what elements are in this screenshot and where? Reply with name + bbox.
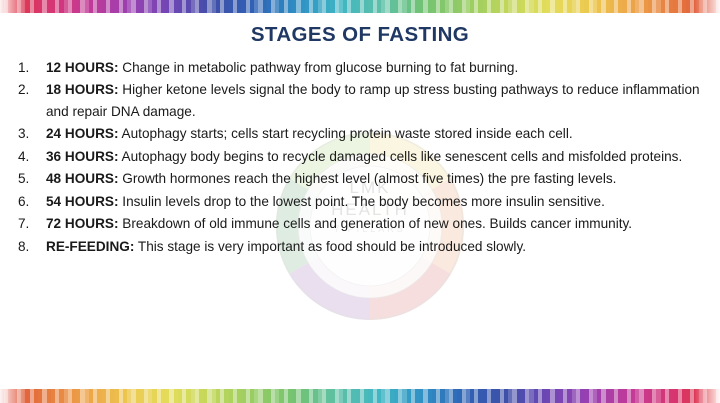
stage-description: Higher ketone levels signal the body to … <box>46 82 700 119</box>
bottom-border-stripe <box>275 389 279 403</box>
top-border-stripe <box>449 0 453 13</box>
top-border-stripe <box>275 0 279 13</box>
stage-number: 2. <box>14 79 46 101</box>
stage-label: 12 HOURS: <box>46 60 119 75</box>
stage-label: 72 HOURS: <box>46 216 119 231</box>
top-border-stripe <box>690 0 694 13</box>
bottom-border-stripe <box>627 389 631 403</box>
bottom-border-stripe <box>703 389 707 403</box>
stage-text: 54 HOURS: Insulin levels drop to the low… <box>46 191 704 213</box>
top-border-stripe <box>665 0 669 13</box>
stage-label: 54 HOURS: <box>46 194 119 209</box>
stage-description: Autophagy body begins to recycle damaged… <box>119 149 683 164</box>
stage-description: Breakdown of old immune cells and genera… <box>119 216 633 231</box>
top-border-stripe <box>373 0 377 13</box>
bottom-border-stripe <box>550 389 554 403</box>
bottom-border-stripe <box>106 389 110 403</box>
list-item: 3.24 HOURS: Autophagy starts; cells star… <box>0 123 720 145</box>
stage-number: 8. <box>14 236 46 258</box>
top-border-stripe <box>258 0 262 13</box>
stage-text: 48 HOURS: Growth hormones reach the high… <box>46 168 704 190</box>
top-border-stripe <box>182 0 186 13</box>
stage-label: RE-FEEDING: <box>46 239 134 254</box>
bottom-border-stripe <box>157 389 161 403</box>
stage-number: 3. <box>14 123 46 145</box>
bottom-border-stripe <box>656 389 660 403</box>
stage-description: Insulin levels drop to the lowest point.… <box>119 194 605 209</box>
top-border-stripe <box>309 0 313 13</box>
top-border-stripe <box>512 0 516 13</box>
bottom-border-stripe <box>449 389 453 403</box>
top-border-stripe <box>423 0 427 13</box>
stage-text: 24 HOURS: Autophagy starts; cells start … <box>46 123 704 145</box>
stage-label: 48 HOURS: <box>46 171 119 186</box>
stage-description: Change in metabolic pathway from glucose… <box>119 60 519 75</box>
top-border-stripe <box>500 0 504 13</box>
bottom-border-stripe <box>85 389 89 403</box>
bottom-border-stripe <box>500 389 504 403</box>
stage-text: RE-FEEDING: This stage is very important… <box>46 236 704 258</box>
bottom-border-stripe <box>42 389 46 403</box>
bottom-border-stripe <box>55 389 59 403</box>
top-border-stripe <box>21 0 25 13</box>
list-item: 8.RE-FEEDING: This stage is very importa… <box>0 236 720 258</box>
bottom-border-stripe <box>601 389 605 403</box>
stage-text: 12 HOURS: Change in metabolic pathway fr… <box>46 57 704 79</box>
top-border-stripe <box>529 0 533 13</box>
top-border-stripe <box>601 0 605 13</box>
top-border-stripe <box>678 0 682 13</box>
bottom-border-stripe <box>169 389 173 403</box>
bottom-border-stripe <box>4 389 8 403</box>
bottom-border-stripe <box>93 389 97 403</box>
stage-label: 36 HOURS: <box>46 149 119 164</box>
stage-description: Growth hormones reach the highest level … <box>119 171 617 186</box>
top-border-stripe <box>93 0 97 13</box>
top-border-stripe <box>322 0 326 13</box>
top-border-stripe <box>220 0 224 13</box>
bottom-border-stripe <box>436 389 440 403</box>
top-border-stripe <box>436 0 440 13</box>
top-rainbow-border <box>0 0 720 13</box>
top-border-stripe <box>68 0 72 13</box>
top-border-stripe <box>246 0 250 13</box>
top-border-stripe <box>339 0 343 13</box>
bottom-border-stripe <box>423 389 427 403</box>
bottom-border-stripe <box>21 389 25 403</box>
list-item: 5.48 HOURS: Growth hormones reach the hi… <box>0 168 720 190</box>
top-border-stripe <box>639 0 643 13</box>
top-border-stripe <box>157 0 161 13</box>
page-title: STAGES OF FASTING <box>0 25 720 46</box>
bottom-border-stripe <box>131 389 135 403</box>
top-border-stripe <box>487 0 491 13</box>
bottom-border-stripe <box>665 389 669 403</box>
bottom-border-stripe <box>373 389 377 403</box>
stage-description: Autophagy starts; cells start recycling … <box>119 126 573 141</box>
top-border-stripe <box>474 0 478 13</box>
bottom-border-stripe <box>538 389 542 403</box>
top-border-stripe <box>385 0 389 13</box>
top-border-stripe <box>55 0 59 13</box>
bottom-border-stripe <box>322 389 326 403</box>
bottom-border-stripe <box>576 389 580 403</box>
bottom-border-stripe <box>68 389 72 403</box>
stage-number: 1. <box>14 57 46 79</box>
bottom-border-stripe <box>563 389 567 403</box>
top-border-stripe <box>614 0 618 13</box>
bottom-border-stripe <box>360 389 364 403</box>
bottom-border-stripe <box>529 389 533 403</box>
top-border-stripe <box>627 0 631 13</box>
bottom-border-stripe <box>512 389 516 403</box>
bottom-border-stripe <box>182 389 186 403</box>
bottom-border-stripe <box>220 389 224 403</box>
top-border-stripe <box>4 0 8 13</box>
bottom-border-stripe <box>246 389 250 403</box>
bottom-border-stripe <box>487 389 491 403</box>
stage-number: 4. <box>14 146 46 168</box>
top-border-stripe <box>550 0 554 13</box>
top-border-stripe <box>195 0 199 13</box>
top-border-stripe <box>656 0 660 13</box>
top-border-stripe <box>347 0 351 13</box>
top-border-stripe <box>30 0 34 13</box>
bottom-border-stripe <box>339 389 343 403</box>
list-item: 1.12 HOURS: Change in metabolic pathway … <box>0 57 720 79</box>
bottom-border-stripe <box>195 389 199 403</box>
bottom-border-stripe <box>614 389 618 403</box>
stage-label: 18 HOURS: <box>46 82 119 97</box>
bottom-border-stripe <box>385 389 389 403</box>
top-border-stripe <box>119 0 123 13</box>
top-border-stripe <box>466 0 470 13</box>
bottom-border-stripe <box>296 389 300 403</box>
bottom-rainbow-border <box>0 389 720 403</box>
fasting-stages-infographic: LMK HEALTH 7 PILLARS STAGES OF FASTING 1… <box>0 0 720 403</box>
bottom-border-stripe <box>212 389 216 403</box>
bottom-border-stripe <box>148 389 152 403</box>
stage-text: 72 HOURS: Breakdown of old immune cells … <box>46 213 704 235</box>
top-border-stripe <box>538 0 542 13</box>
stage-label: 24 HOURS: <box>46 126 119 141</box>
bottom-border-stripe <box>466 389 470 403</box>
list-item: 7.72 HOURS: Breakdown of old immune cell… <box>0 213 720 235</box>
bottom-border-stripe <box>402 389 406 403</box>
stage-number: 5. <box>14 168 46 190</box>
bottom-border-stripe <box>411 389 415 403</box>
bottom-border-stripe <box>284 389 288 403</box>
top-border-stripe <box>148 0 152 13</box>
top-border-stripe <box>212 0 216 13</box>
stages-list: 1.12 HOURS: Change in metabolic pathway … <box>0 57 720 258</box>
bottom-border-stripe <box>30 389 34 403</box>
top-border-stripe <box>233 0 237 13</box>
bottom-border-stripe <box>233 389 237 403</box>
stage-text: 36 HOURS: Autophagy body begins to recyc… <box>46 146 704 168</box>
top-border-stripe <box>716 0 720 13</box>
stage-number: 7. <box>14 213 46 235</box>
top-border-stripe <box>131 0 135 13</box>
bottom-border-stripe <box>258 389 262 403</box>
bottom-border-stripe <box>678 389 682 403</box>
bottom-border-stripe <box>690 389 694 403</box>
bottom-border-stripe <box>593 389 597 403</box>
top-border-stripe <box>42 0 46 13</box>
stage-number: 6. <box>14 191 46 213</box>
list-item: 6.54 HOURS: Insulin levels drop to the l… <box>0 191 720 213</box>
top-border-stripe <box>106 0 110 13</box>
bottom-border-stripe <box>639 389 643 403</box>
top-border-stripe <box>360 0 364 13</box>
bottom-border-stripe <box>716 389 720 403</box>
top-border-stripe <box>284 0 288 13</box>
list-item: 2.18 HOURS: Higher ketone levels signal … <box>0 79 720 122</box>
stage-description: This stage is very important as food sho… <box>134 239 526 254</box>
bottom-border-stripe <box>119 389 123 403</box>
bottom-border-stripe <box>347 389 351 403</box>
list-item: 4.36 HOURS: Autophagy body begins to rec… <box>0 146 720 168</box>
top-border-stripe <box>593 0 597 13</box>
top-border-stripe <box>296 0 300 13</box>
top-border-stripe <box>169 0 173 13</box>
top-border-stripe <box>85 0 89 13</box>
top-border-stripe <box>703 0 707 13</box>
top-border-stripe <box>576 0 580 13</box>
bottom-border-stripe <box>474 389 478 403</box>
top-border-stripe <box>411 0 415 13</box>
top-border-stripe <box>563 0 567 13</box>
stage-text: 18 HOURS: Higher ketone levels signal th… <box>46 79 704 122</box>
top-border-stripe <box>402 0 406 13</box>
content-area: STAGES OF FASTING 1.12 HOURS: Change in … <box>0 13 720 389</box>
bottom-border-stripe <box>309 389 313 403</box>
